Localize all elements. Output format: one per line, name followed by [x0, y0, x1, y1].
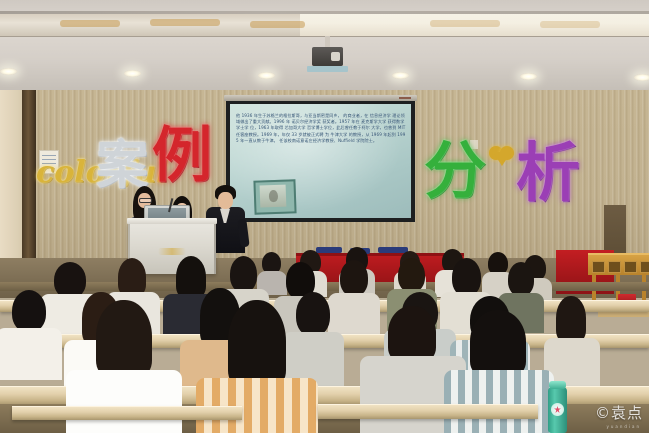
- projector-mounting-plate: [307, 66, 348, 72]
- glasses-icon: [139, 198, 152, 203]
- beam-stain: [250, 21, 305, 28]
- wall-decor-char-xi: 析: [516, 142, 580, 206]
- watermark-subtext: yuandian: [606, 424, 641, 429]
- slide-line-1: 他 1936 年生于苏格兰的格拉斯哥，与亚当斯密是同乡，: [236, 113, 342, 118]
- ceiling-downlight: [258, 72, 275, 79]
- ir-receiver-icon: [399, 97, 411, 99]
- ceiling-downlight: [392, 72, 409, 79]
- slide-text-block: 他 1936 年生于苏格兰的格拉斯哥，与亚当斯密是同乡， 的商业者，在 信息经济…: [236, 113, 406, 144]
- projector-lens-icon: [331, 52, 340, 61]
- ceiling-downlight: [520, 73, 537, 80]
- projection-screen: 他 1936 年生于苏格兰的格拉斯哥，与亚当斯密是同乡， 的商业者，在 信息经济…: [230, 104, 411, 218]
- console-table: [588, 253, 649, 275]
- beam-stain: [60, 20, 120, 27]
- ceiling-projector: [312, 47, 343, 66]
- desk-front-left: [12, 406, 242, 420]
- ceiling-downlight: [0, 68, 17, 75]
- gold-heart-icon: [489, 146, 515, 168]
- beam-stain: [430, 20, 500, 27]
- wall-decor-char-an: 案: [96, 140, 148, 192]
- green-thermos: [548, 387, 567, 433]
- beam-stain: [150, 19, 220, 26]
- slide-line-4: 位，1963 年取得 芯加哥大学 哲学博士学位，此后曾任教于柯尔: [250, 125, 370, 130]
- ceiling-downlight: [634, 74, 649, 81]
- slide-portrait-photo: [253, 179, 296, 214]
- lecture-hall-photo: colorful 案 例 分 析 他 1936 年生于苏格兰的格拉斯哥，与亚当斯…: [0, 0, 649, 433]
- desk-front-right: [318, 404, 538, 419]
- ceiling-downlight: [124, 70, 141, 77]
- wall-decor-char-fen: 分: [424, 140, 486, 202]
- wall-decor-char-li: 例: [152, 126, 212, 186]
- watermark: ©袁点: [595, 402, 643, 423]
- beam-stain: [540, 21, 600, 28]
- slide-line-7: 任该校南诺意诺庄经济学教授、Nuffield 学院院士。: [279, 138, 377, 143]
